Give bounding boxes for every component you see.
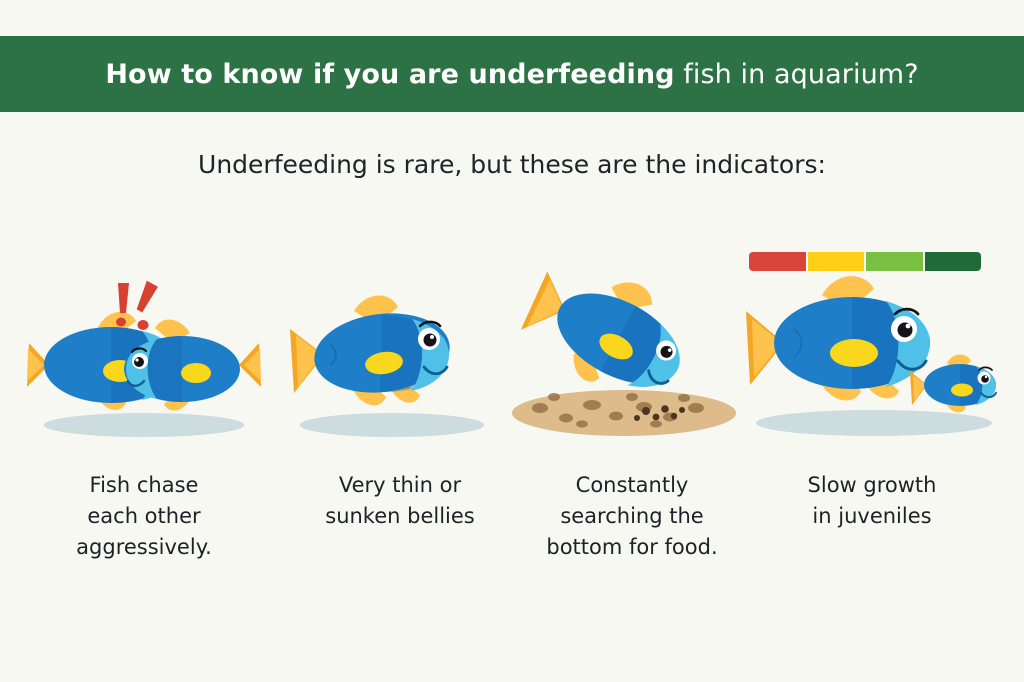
shadow-ellipse bbox=[44, 413, 244, 437]
shadow-ellipse bbox=[756, 410, 992, 436]
panel-bottom-searching: Constantly searching the bottom for food… bbox=[504, 225, 760, 625]
caption-line: each other bbox=[16, 501, 272, 532]
illustration-thin-fish bbox=[272, 225, 528, 465]
sand-bed bbox=[512, 390, 736, 436]
panel-thin-bellies: Very thin or sunken bellies bbox=[272, 225, 528, 625]
header-banner: How to know if you are underfeeding fish… bbox=[0, 36, 1024, 112]
page-title-bold: How to know if you are underfeeding bbox=[105, 59, 674, 90]
illustration-two-fish-chasing bbox=[16, 225, 272, 465]
subtitle: Underfeeding is rare, but these are the … bbox=[0, 150, 1024, 179]
fish-thin bbox=[290, 295, 454, 405]
caption-line: searching the bbox=[504, 501, 760, 532]
caption-line: Very thin or bbox=[272, 470, 528, 501]
caption-line: bottom for food. bbox=[504, 532, 760, 563]
fish-adult bbox=[746, 276, 930, 400]
caption-line: in juveniles bbox=[744, 501, 1000, 532]
shadow-ellipse bbox=[300, 413, 484, 437]
page-title-light: fish in aquarium? bbox=[675, 59, 919, 90]
illustration-fish-searching-bottom bbox=[504, 225, 760, 465]
illustration-adult-and-juvenile-fish bbox=[744, 225, 1000, 465]
panel-caption: Constantly searching the bottom for food… bbox=[504, 470, 760, 563]
panel-caption: Slow growth in juveniles bbox=[744, 470, 1000, 532]
caption-line: aggressively. bbox=[16, 532, 272, 563]
exclamation-marks-icon bbox=[116, 280, 159, 330]
caption-line: sunken bellies bbox=[272, 501, 528, 532]
caption-line: Slow growth bbox=[744, 470, 1000, 501]
caption-line: Constantly bbox=[504, 470, 760, 501]
panel-fish-chasing: Fish chase each other aggressively. bbox=[16, 225, 272, 625]
page-title: How to know if you are underfeeding fish… bbox=[105, 59, 918, 90]
infographic-page: How to know if you are underfeeding fish… bbox=[0, 0, 1024, 682]
panel-slow-growth: Slow growth in juveniles bbox=[744, 225, 1000, 625]
panels-row: Fish chase each other aggressively. bbox=[0, 225, 1024, 625]
panel-caption: Fish chase each other aggressively. bbox=[16, 470, 272, 563]
panel-caption: Very thin or sunken bellies bbox=[272, 470, 528, 532]
caption-line: Fish chase bbox=[16, 470, 272, 501]
